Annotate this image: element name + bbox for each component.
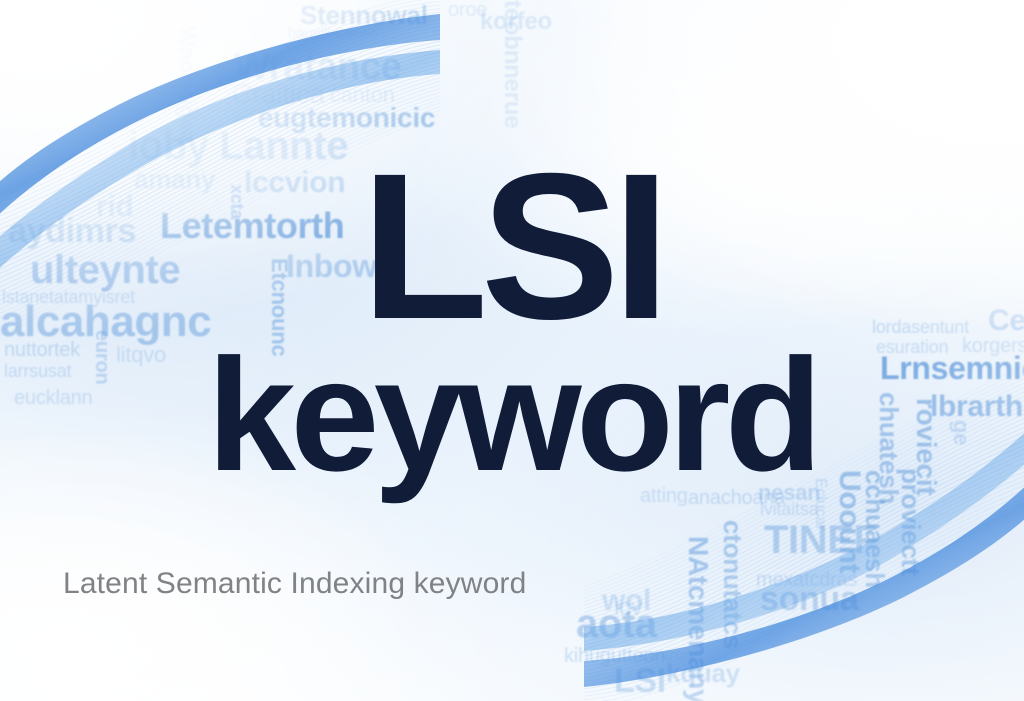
- word-cloud-word: xcta: [228, 184, 246, 219]
- wave-hairline: [584, 479, 1024, 693]
- wave-hairline: [584, 379, 1024, 613]
- word-cloud-word: alcahagnc: [0, 300, 211, 344]
- word-cloud-word: Stennowal: [300, 2, 428, 28]
- wave-ribbon-primary: [584, 447, 1024, 687]
- word-cloud-word: ge: [950, 420, 972, 445]
- wave-hairline: [0, 0, 440, 204]
- word-cloud-word: esuration: [876, 338, 948, 356]
- word-cloud-word: cchuaesh: [862, 470, 888, 588]
- wave-hairline: [0, 67, 440, 295]
- word-cloud-word: lordasentunt: [872, 318, 969, 336]
- wave-hairline: [0, 0, 440, 209]
- word-cloud-word: canton: [330, 84, 395, 106]
- promo-banner: Stennowalbaunill CaneooroeWratanceCraiti…: [0, 0, 1024, 701]
- word-cloud-word: roviecit: [912, 398, 940, 495]
- wave-hairline: [0, 12, 440, 227]
- word-cloud-word: oroe: [448, 0, 487, 20]
- word-cloud-word: lccvion: [244, 168, 345, 198]
- wave-hairline: [0, 34, 440, 254]
- wave-hairline: [584, 374, 1024, 609]
- wave-hairline: [0, 107, 440, 345]
- wave-hairline: [0, 1, 440, 213]
- word-cloud-word: Ce: [988, 306, 1024, 336]
- word-cloud-word: Letemtorth: [160, 208, 344, 244]
- wave-hairline: [0, 27, 440, 245]
- word-cloud-word: eugtemonicic: [258, 104, 435, 132]
- wave-hairline: [0, 59, 440, 285]
- wave-hairline: [584, 461, 1024, 678]
- word-cloud-word: mexatcdras: [756, 570, 857, 590]
- wave-hairline: [584, 497, 1024, 701]
- word-cloud-word: Wratance: [234, 48, 401, 86]
- word-cloud-word: proviectt: [898, 468, 924, 575]
- wave-hairline: [0, 103, 440, 340]
- wave-hairline: [584, 397, 1024, 627]
- word-cloud-word: baunill Caneo: [288, 26, 378, 41]
- word-cloud-word: ulteynte: [30, 250, 180, 290]
- wave-hairline: [584, 442, 1024, 663]
- word-cloud-word: TINEF: [764, 520, 878, 560]
- word-cloud-word: atting: [640, 486, 688, 506]
- wave-hairline: [0, 52, 440, 277]
- wave-ribbon-secondary: [584, 395, 1024, 651]
- wave-decoration-bottom-right: [584, 327, 1024, 701]
- word-cloud-word: lstanetatamyisret: [2, 288, 135, 306]
- wave-hairline: [0, 30, 440, 249]
- wave-hairline: [584, 424, 1024, 649]
- wave-hairline: [0, 63, 440, 290]
- wave-hairline: [584, 383, 1024, 616]
- word-cloud-word: lbrartho: [930, 392, 1024, 422]
- word-cloud-word: Wnoricigea: [176, 26, 198, 142]
- wave-hairline: [584, 392, 1024, 623]
- wave-hairline: [0, 96, 440, 331]
- wave-hairline: [584, 347, 1024, 587]
- wave-hairline: [0, 81, 440, 313]
- wave-hairline: [584, 402, 1024, 631]
- word-cloud-word: korgersh: [962, 336, 1024, 356]
- page-subtitle: Latent Semantic Indexing keyword: [63, 567, 526, 601]
- word-cloud-word: teobnnerue: [500, 0, 524, 128]
- wave-hairline: [584, 388, 1024, 620]
- word-cloud-word: ioby Lannte: [128, 126, 348, 166]
- wave-hairline: [584, 483, 1024, 696]
- wave-ribbon-primary: [0, 14, 440, 254]
- wave-hairline: [584, 406, 1024, 634]
- wave-hairline: [584, 411, 1024, 638]
- word-cloud-word: contron: [640, 648, 692, 664]
- wave-hairline: [584, 447, 1024, 667]
- wave-hairline: [584, 488, 1024, 700]
- word-cloud-word: Lrnsemnice: [880, 352, 1024, 384]
- word-cloud-word: wol: [602, 586, 651, 616]
- word-cloud-word: ctonutatcs: [720, 520, 746, 649]
- wave-hairline: [0, 78, 440, 309]
- word-cloud-word: chuatesh: [876, 392, 902, 504]
- word-cloud-word: Inbow: [286, 250, 377, 282]
- wave-hairline: [584, 356, 1024, 594]
- wave-hairline: [0, 56, 440, 281]
- wave-hairline: [584, 352, 1024, 591]
- wave-ribbon-secondary: [0, 50, 440, 306]
- wave-hairline: [0, 92, 440, 327]
- wave-hairline: [0, 70, 440, 299]
- page-title-secondary: keyword: [0, 340, 1024, 490]
- word-cloud-word: kquay: [666, 660, 740, 686]
- wave-hairline: [584, 365, 1024, 601]
- word-cloud-word: Uoount: [834, 470, 864, 573]
- wave-hairline: [584, 361, 1024, 598]
- wave-hairline: [584, 429, 1024, 653]
- word-cloud-word: larrsusat: [4, 362, 71, 380]
- word-cloud-word: nuttortek: [4, 340, 80, 360]
- wave-hairline: [584, 492, 1024, 701]
- headline-block: LSI keyword: [0, 150, 1024, 490]
- word-cloud-word: kihugutteon: [564, 646, 665, 666]
- wave-hairline: [584, 415, 1024, 641]
- wave-hairline: [584, 433, 1024, 656]
- wave-hairline: [0, 5, 440, 218]
- word-cloud-word: rid: [96, 192, 133, 222]
- wave-hairline: [0, 19, 440, 235]
- wave-hairline: [0, 114, 440, 354]
- word-cloud-word: Etcnounc: [268, 258, 290, 356]
- wave-hairline: [0, 99, 440, 335]
- wave-hairline: [0, 38, 440, 259]
- word-cloud-word: Eclucar: [812, 478, 828, 530]
- word-cloud-word: korfeo: [480, 10, 552, 34]
- word-cloud-word: aota: [576, 604, 657, 644]
- wave-hairline: [0, 23, 440, 240]
- wave-hairline: [584, 470, 1024, 685]
- word-cloud-word: LSI: [614, 664, 666, 698]
- wave-hairline: [584, 420, 1024, 645]
- word-cloud-word: amany: [134, 166, 215, 192]
- word-cloud-word: icv: [614, 596, 643, 620]
- wave-hairline: [0, 85, 440, 318]
- wave-hairline: [0, 110, 440, 349]
- word-cloud-word: Craitica: [232, 80, 325, 108]
- word-cloud-word: anachoana: [688, 488, 785, 508]
- word-cloud-word: NAtcmenany: [684, 536, 712, 701]
- wave-hairline: [0, 89, 440, 323]
- word-cloud-word: eucklann: [14, 388, 92, 408]
- word-cloud-word: euron: [92, 330, 112, 385]
- page-title-primary: LSI: [0, 150, 1024, 346]
- word-cloud-word: nesan: [758, 482, 820, 504]
- word-cloud-word: lvitaitsa: [760, 500, 818, 518]
- word-cloud-word: litqvo: [116, 344, 166, 366]
- wave-hairline: [0, 9, 440, 223]
- wave-hairline: [584, 438, 1024, 660]
- wave-hairline: [0, 41, 440, 263]
- wave-hairline: [584, 452, 1024, 671]
- wave-hairline: [584, 456, 1024, 674]
- wave-hairline: [584, 474, 1024, 689]
- wave-hairline: [584, 465, 1024, 681]
- wave-hairline: [0, 74, 440, 304]
- wave-hairline: [584, 370, 1024, 605]
- word-cloud-word: sonua: [760, 582, 858, 616]
- wave-decoration-top-left: [0, 0, 440, 374]
- word-cloud-word: aydimrs: [8, 214, 136, 248]
- wave-hairline: [0, 45, 440, 268]
- wave-hairline: [0, 16, 440, 231]
- wave-hairline: [0, 49, 440, 273]
